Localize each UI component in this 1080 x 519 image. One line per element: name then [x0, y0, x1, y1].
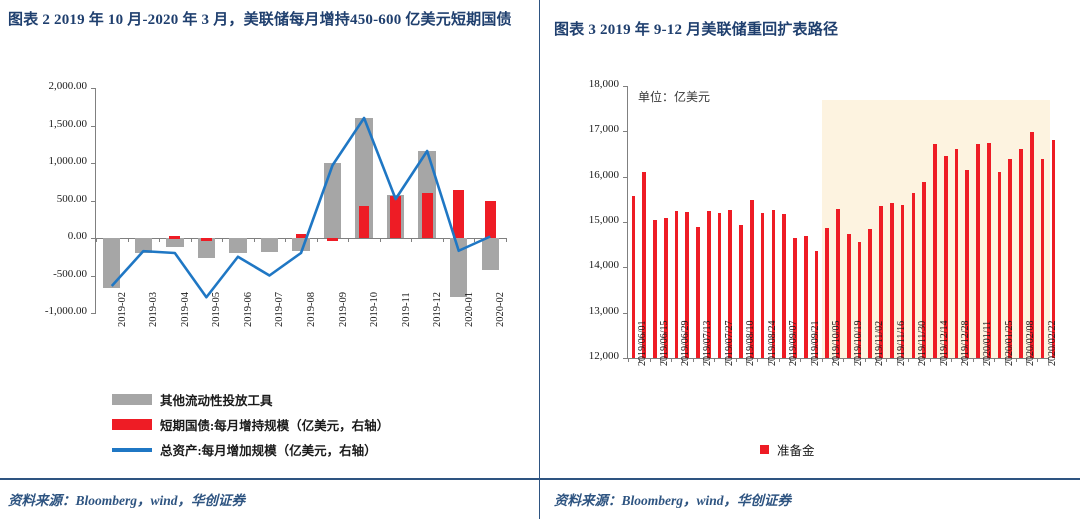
x-tick-label: 2020/02/08 — [1025, 320, 1036, 366]
legend-item: 其他流动性投放工具 — [112, 390, 273, 409]
bar-reserves — [955, 149, 959, 358]
x-tick-label: 2019/06/01 — [637, 320, 648, 366]
bar-reserves — [1041, 159, 1045, 358]
x-tick-label: 2019-05 — [211, 292, 222, 327]
right-chart: 12,00013,00014,00015,00016,00017,00018,0… — [540, 78, 1080, 378]
y-tick-label: 15,000 — [540, 214, 619, 226]
legend-box-swatch-icon — [112, 394, 152, 405]
bar-reserves — [825, 228, 829, 358]
bar-reserves — [761, 213, 765, 358]
x-tick-label: 2019/07/27 — [724, 320, 735, 366]
x-tick — [973, 358, 974, 362]
x-tick-label: 2019/09/07 — [788, 320, 799, 366]
right-chart-legend: 准备金 — [760, 440, 815, 459]
x-tick-label: 2019-03 — [148, 292, 159, 327]
bar-reserves — [718, 213, 722, 358]
legend-label: 短期国债:每月增持规模（亿美元，右轴） — [160, 415, 389, 434]
x-tick-label: 2019/10/19 — [853, 320, 864, 366]
right-rule — [540, 478, 1080, 480]
y-tick-label: 12,000 — [540, 350, 619, 362]
figure-page: 图表 2 2019 年 10 月-2020 年 3 月，美联储每月增持450-6… — [0, 0, 1080, 519]
y-tick-label: 13,000 — [540, 305, 619, 317]
x-tick — [779, 358, 780, 362]
bar-reserves — [890, 203, 894, 358]
x-tick — [757, 358, 758, 362]
bar-reserves — [847, 234, 851, 358]
x-tick — [714, 358, 715, 362]
x-tick-label: 2020-02 — [495, 292, 506, 327]
x-tick — [951, 358, 952, 362]
x-tick-label: 2019/11/02 — [874, 321, 885, 366]
x-tick-label: 2019-07 — [274, 292, 285, 327]
y-tick-label: 16,000 — [540, 169, 619, 181]
right-unit-note: 单位：亿美元 — [638, 88, 710, 105]
y-tick — [623, 86, 628, 87]
bar-reserves — [804, 236, 808, 358]
right-figure-title: 图表 3 2019 年 9-12 月美联储重回扩表路径 — [554, 18, 1069, 42]
legend-item: 短期国债:每月增持规模（亿美元，右轴） — [112, 415, 389, 434]
legend-label-reserves: 准备金 — [777, 440, 815, 459]
bar-reserves — [675, 211, 679, 358]
x-tick-label: 2019/06/15 — [659, 320, 670, 366]
x-tick — [886, 358, 887, 362]
bar-reserves — [976, 144, 980, 358]
bar-reserves — [1019, 149, 1023, 358]
x-tick-label: 2020/01/25 — [1004, 320, 1015, 366]
x-tick-label: 2019/12/14 — [939, 320, 950, 366]
x-tick-label: 2019-02 — [117, 292, 128, 327]
x-tick — [800, 358, 801, 362]
x-tick — [628, 358, 629, 362]
bar-reserves — [632, 196, 636, 358]
left-source-note: 资料来源：Bloomberg，wind，华创证券 — [8, 489, 245, 509]
legend-item: 总资产:每月增加规模（亿美元，右轴） — [112, 440, 377, 459]
y-tick-label: 17,000 — [540, 123, 619, 135]
left-panel: 图表 2 2019 年 10 月-2020 年 3 月，美联储每月增持450-6… — [0, 0, 540, 519]
x-tick-label: 2019/12/28 — [960, 320, 971, 366]
x-tick-label: 2019-04 — [180, 292, 191, 327]
bar-reserves — [868, 229, 872, 358]
line-total-assets — [0, 78, 506, 323]
x-tick-label: 2019/11/16 — [896, 321, 907, 366]
x-tick — [843, 358, 844, 362]
y-tick — [623, 177, 628, 178]
x-tick-label: 2019-09 — [338, 292, 349, 327]
y-tick — [623, 267, 628, 268]
x-tick-label: 2019/08/24 — [767, 320, 778, 366]
left-chart: -1,000.00-500.000.00500.001,000.001,500.… — [0, 78, 540, 378]
legend-box-swatch-icon — [112, 419, 152, 430]
x-tick — [1016, 358, 1017, 362]
x-tick-label: 2019/06/29 — [680, 320, 691, 366]
bar-reserves — [696, 227, 700, 358]
x-tick — [671, 358, 672, 362]
left-figure-title: 图表 2 2019 年 10 月-2020 年 3 月，美联储每月增持450-6… — [8, 8, 513, 32]
bar-reserves — [739, 225, 743, 358]
x-tick — [865, 358, 866, 362]
x-tick — [650, 358, 651, 362]
y-tick — [623, 313, 628, 314]
x-tick — [930, 358, 931, 362]
x-tick — [1037, 358, 1038, 362]
x-tick-label: 2019-11 — [401, 292, 412, 327]
right-source-note: 资料来源：Bloomberg，wind，华创证券 — [554, 489, 791, 509]
y-tick-label: 14,000 — [540, 259, 619, 271]
reserves-swatch-icon — [760, 445, 769, 454]
x-tick-label: 2020/02/22 — [1047, 320, 1058, 366]
legend-label: 其他流动性投放工具 — [160, 390, 273, 409]
x-tick-label: 2019/07/13 — [702, 320, 713, 366]
x-tick — [736, 358, 737, 362]
x-tick-label: 2019/11/30 — [917, 321, 928, 366]
x-tick — [822, 358, 823, 362]
x-tick — [994, 358, 995, 362]
x-tick — [908, 358, 909, 362]
y-tick — [623, 222, 628, 223]
bar-reserves — [912, 193, 916, 358]
legend-label: 总资产:每月增加规模（亿美元，右轴） — [160, 440, 377, 459]
x-tick-label: 2019/10/05 — [831, 320, 842, 366]
x-tick-label: 2019-12 — [432, 292, 443, 327]
x-tick-label: 2019-08 — [306, 292, 317, 327]
bar-reserves — [653, 220, 657, 358]
x-tick-label: 2019-10 — [369, 292, 380, 327]
legend-line-swatch-icon — [112, 448, 152, 452]
x-tick-label: 2019/08/10 — [745, 320, 756, 366]
x-tick-label: 2019/09/21 — [810, 320, 821, 366]
y-tick-label: 18,000 — [540, 78, 619, 90]
x-tick — [506, 238, 507, 242]
bar-reserves — [782, 214, 786, 358]
bar-reserves — [998, 172, 1002, 358]
bar-reserves — [933, 144, 937, 358]
x-tick-label: 2020/01/11 — [982, 321, 993, 366]
left-rule — [0, 478, 540, 480]
x-tick-label: 2020-01 — [464, 292, 475, 327]
x-tick-label: 2019-06 — [243, 292, 254, 327]
x-tick — [693, 358, 694, 362]
y-tick — [623, 131, 628, 132]
right-panel: 图表 3 2019 年 9-12 月美联储重回扩表路径 12,00013,000… — [540, 0, 1080, 519]
